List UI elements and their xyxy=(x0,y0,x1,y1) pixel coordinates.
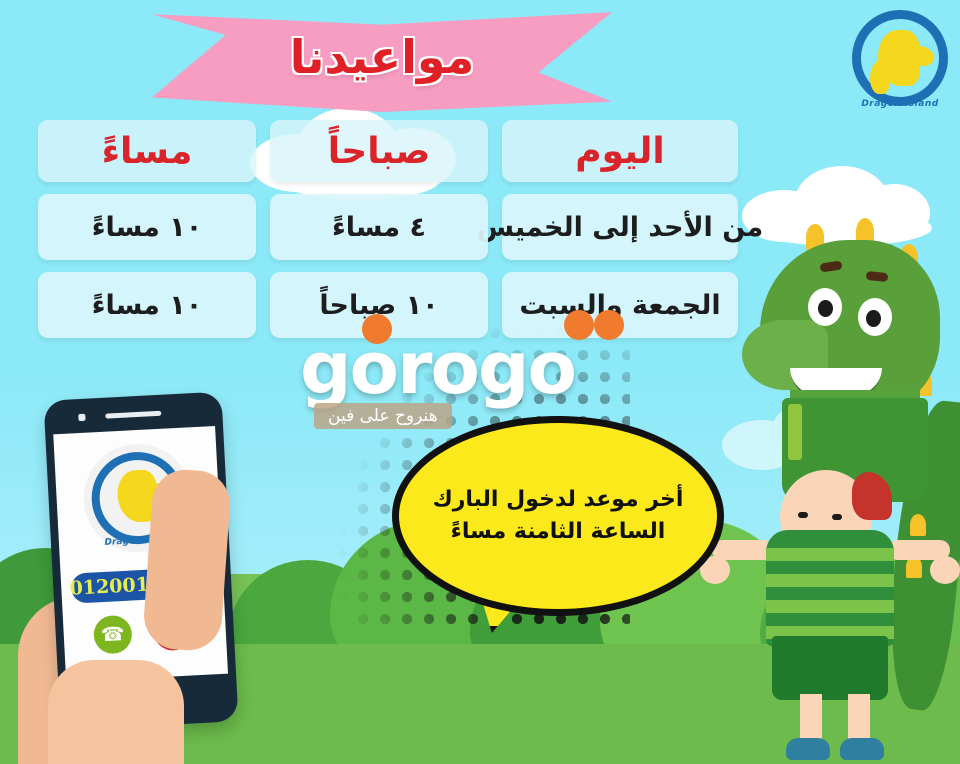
watermark-tagline: هنروح على فين xyxy=(314,403,452,429)
watermark-wordmark: gorogo xyxy=(300,336,660,401)
cell-evening: ١٠ مساءً xyxy=(38,194,256,260)
notice-line-1: أخر موعد لدخول البارك xyxy=(433,487,684,512)
dragon-island-logo: Dragon Island xyxy=(848,8,952,112)
table-header-row: اليوم صباحاً مساءً xyxy=(38,120,738,182)
banner-ribbon: مواعيدنا xyxy=(152,8,612,112)
phone-camera xyxy=(78,414,85,421)
cell-evening: ١٠ مساءً xyxy=(38,272,256,338)
header-evening: مساءً xyxy=(38,120,256,182)
poster-canvas: Dragon Island مواعيدنا اليوم صباحاً مساء… xyxy=(0,0,960,764)
header-morning: صباحاً xyxy=(270,120,488,182)
speech-bubble: أخر موعد لدخول البارك الساعة الثامنة مسا… xyxy=(392,416,724,616)
phone-speaker xyxy=(105,411,161,419)
notice-text: أخر موعد لدخول البارك الساعة الثامنة مسا… xyxy=(415,484,702,548)
header-day: اليوم xyxy=(502,120,738,182)
cell-day: من الأحد إلى الخميس xyxy=(502,194,738,260)
phone-call-icon[interactable]: ☎ xyxy=(93,615,133,655)
page-title: مواعيدنا xyxy=(152,30,612,84)
boy-shorts xyxy=(772,636,888,700)
schedule-table: اليوم صباحاً مساءً من الأحد إلى الخميس ٤… xyxy=(38,120,738,350)
boy-shoe xyxy=(840,738,884,760)
cell-morning: ٤ مساءً xyxy=(270,194,488,260)
watermark: gorogo هنروح على فين xyxy=(300,336,660,429)
notice-line-2: الساعة الثامنة مساءً xyxy=(451,519,666,544)
boy-shoe xyxy=(786,738,830,760)
table-row: من الأحد إلى الخميس ٤ مساءً ١٠ مساءً xyxy=(38,194,738,260)
logo-caption: Dragon Island xyxy=(848,99,952,109)
